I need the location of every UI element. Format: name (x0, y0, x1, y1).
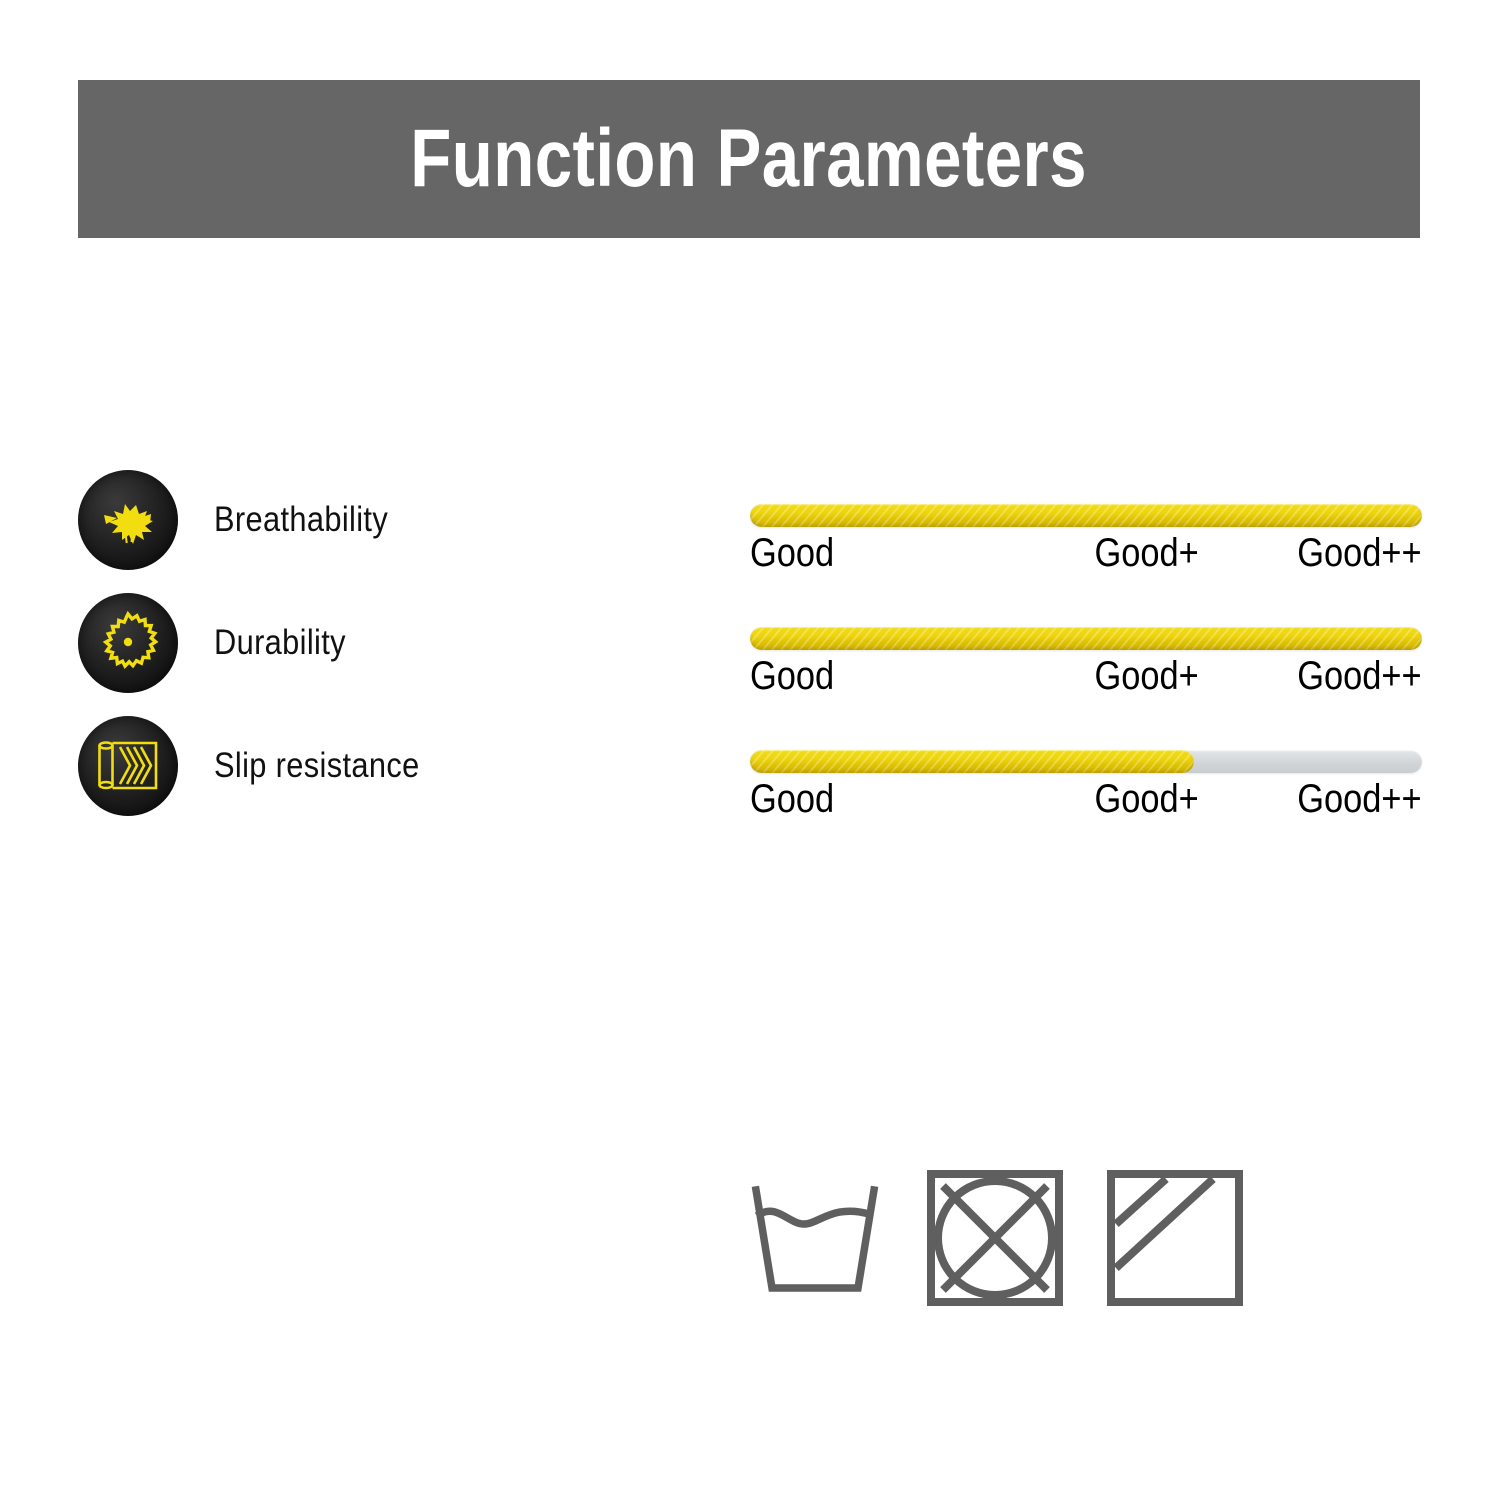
parameter-label: Durability (214, 623, 346, 663)
machine-wash-icon (745, 1168, 885, 1308)
header-bar: Function Parameters (78, 80, 1420, 238)
scale-label-low: Good (750, 532, 834, 574)
scale-label-low: Good (750, 655, 834, 697)
parameter-label-group: Slip resistance (78, 716, 448, 816)
breathability-airflow-icon (78, 470, 178, 570)
meter-fill (750, 627, 1422, 650)
do-not-tumble-dry-icon (925, 1168, 1065, 1308)
slip-resistance-mat-icon (78, 716, 178, 816)
scale-label-mid: Good+ (1094, 655, 1198, 697)
slip-resistance-meter: Good Good+ Good++ (750, 750, 1422, 824)
meter-track[interactable] (750, 504, 1422, 527)
durability-sawblade-icon (78, 593, 178, 693)
meter-fill (750, 750, 1194, 773)
parameter-row-slip-resistance: Slip resistance Good Good+ Good++ (0, 716, 1500, 839)
meter-scale: Good Good+ Good++ (750, 532, 1422, 578)
meter-track[interactable] (750, 627, 1422, 650)
parameter-label-group: Breathability (78, 470, 412, 570)
page-title: Function Parameters (411, 118, 1088, 200)
meter-track[interactable] (750, 750, 1422, 773)
parameter-label: Slip resistance (214, 746, 420, 786)
scale-label-mid: Good+ (1094, 778, 1198, 820)
meter-scale: Good Good+ Good++ (750, 778, 1422, 824)
scale-label-high: Good++ (1298, 655, 1422, 697)
scale-label-high: Good++ (1298, 778, 1422, 820)
care-symbols-group (745, 1168, 1245, 1308)
parameter-label: Breathability (214, 500, 388, 540)
parameters-list: Breathability Good Good+ Good++ (0, 470, 1500, 839)
parameter-row-durability: Durability Good Good+ Good++ (0, 593, 1500, 716)
breathability-meter: Good Good+ Good++ (750, 504, 1422, 578)
dry-in-shade-icon (1105, 1168, 1245, 1308)
scale-label-mid: Good+ (1094, 532, 1198, 574)
parameter-label-group: Durability (78, 593, 364, 693)
scale-label-high: Good++ (1298, 532, 1422, 574)
scale-label-low: Good (750, 778, 834, 820)
durability-meter: Good Good+ Good++ (750, 627, 1422, 701)
meter-scale: Good Good+ Good++ (750, 655, 1422, 701)
parameter-row-breathability: Breathability Good Good+ Good++ (0, 470, 1500, 593)
meter-fill (750, 504, 1422, 527)
